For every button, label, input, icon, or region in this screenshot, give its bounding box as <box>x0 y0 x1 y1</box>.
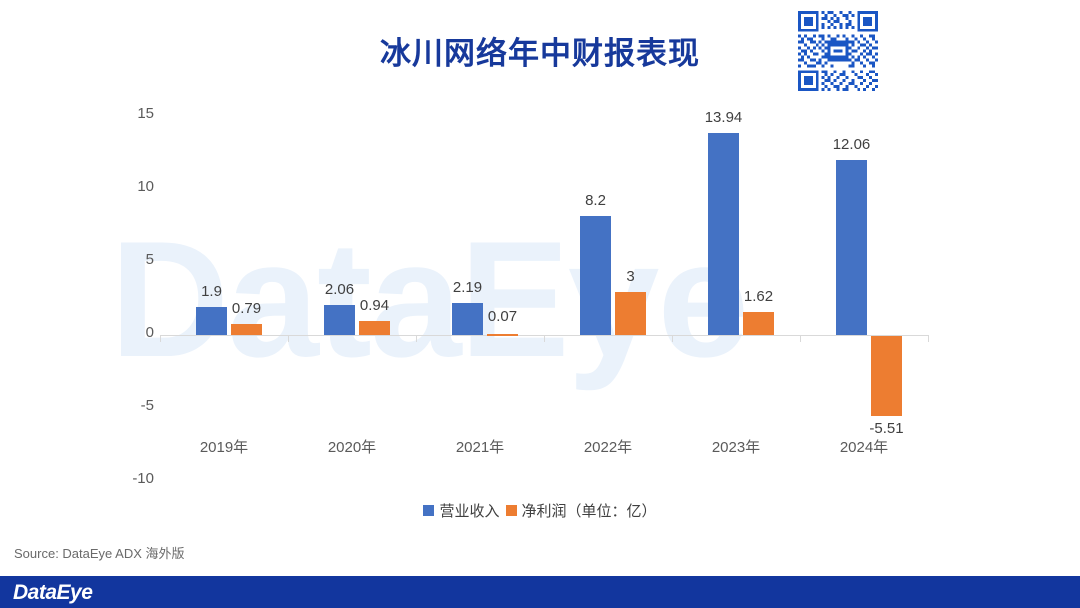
page-title: 冰川网络年中财报表现 <box>0 28 1080 73</box>
bar-profit-2024[interactable] <box>871 336 902 416</box>
bar-label-revenue-2019: 1.9 <box>181 283 242 300</box>
bar-label-profit-2020: 0.94 <box>344 297 405 314</box>
y-tick-15: 15 <box>110 105 154 122</box>
bar-profit-2019[interactable] <box>231 324 262 335</box>
bar-label-profit-2021: 0.07 <box>472 308 533 325</box>
axis-tick <box>288 335 289 342</box>
legend-swatch-profit-icon <box>506 505 517 516</box>
y-tick-0: 0 <box>110 324 154 341</box>
qr-code-icon[interactable] <box>795 8 881 94</box>
legend-item-revenue[interactable]: 营业收入 <box>423 500 499 521</box>
y-tick-neg10: -10 <box>110 470 154 487</box>
y-tick-neg5: -5 <box>110 397 154 414</box>
bar-profit-2020[interactable] <box>359 321 390 335</box>
bar-label-profit-2022: 3 <box>600 268 661 285</box>
bar-label-revenue-2023: 13.94 <box>693 109 754 126</box>
source-note: Source: DataEye ADX 海外版 <box>14 543 185 562</box>
dataeye-logo: DataEye <box>13 581 92 605</box>
category-label-2019: 2019年 <box>160 436 288 457</box>
bar-label-profit-2023: 1.62 <box>728 288 789 305</box>
category-label-2021: 2021年 <box>416 436 544 457</box>
chart-legend: 营业收入 净利润（单位：亿） <box>0 500 1080 521</box>
category-label-2023: 2023年 <box>672 436 800 457</box>
bar-label-revenue-2021: 2.19 <box>437 279 498 296</box>
axis-tick <box>160 335 161 342</box>
axis-tick <box>672 335 673 342</box>
bar-label-revenue-2020: 2.06 <box>309 281 370 298</box>
axis-tick <box>544 335 545 342</box>
axis-tick <box>416 335 417 342</box>
bar-label-revenue-2024: 12.06 <box>821 136 882 153</box>
legend-swatch-revenue-icon <box>423 505 434 516</box>
category-label-2022: 2022年 <box>544 436 672 457</box>
legend-label-profit: 净利润（单位：亿） <box>522 500 657 521</box>
category-label-2024: 2024年 <box>800 436 928 457</box>
legend-item-profit[interactable]: 净利润（单位：亿） <box>506 500 657 521</box>
bar-profit-2022[interactable] <box>615 292 646 335</box>
bar-profit-2021[interactable] <box>487 334 518 336</box>
bar-label-revenue-2022: 8.2 <box>565 192 626 209</box>
footer-bar: DataEye <box>0 576 1080 608</box>
bar-revenue-2024[interactable] <box>836 160 867 335</box>
bar-label-profit-2019: 0.79 <box>216 300 277 317</box>
bar-chart: DataEye 15 10 5 0 -5 -10 1.9 0.79 2019年 … <box>0 95 1080 495</box>
bar-label-profit-2024: -5.51 <box>856 420 917 437</box>
axis-tick <box>928 335 929 342</box>
y-tick-5: 5 <box>110 251 154 268</box>
y-tick-10: 10 <box>110 178 154 195</box>
bar-profit-2023[interactable] <box>743 312 774 335</box>
legend-label-revenue: 营业收入 <box>439 500 499 521</box>
category-label-2020: 2020年 <box>288 436 416 457</box>
axis-tick <box>800 335 801 342</box>
